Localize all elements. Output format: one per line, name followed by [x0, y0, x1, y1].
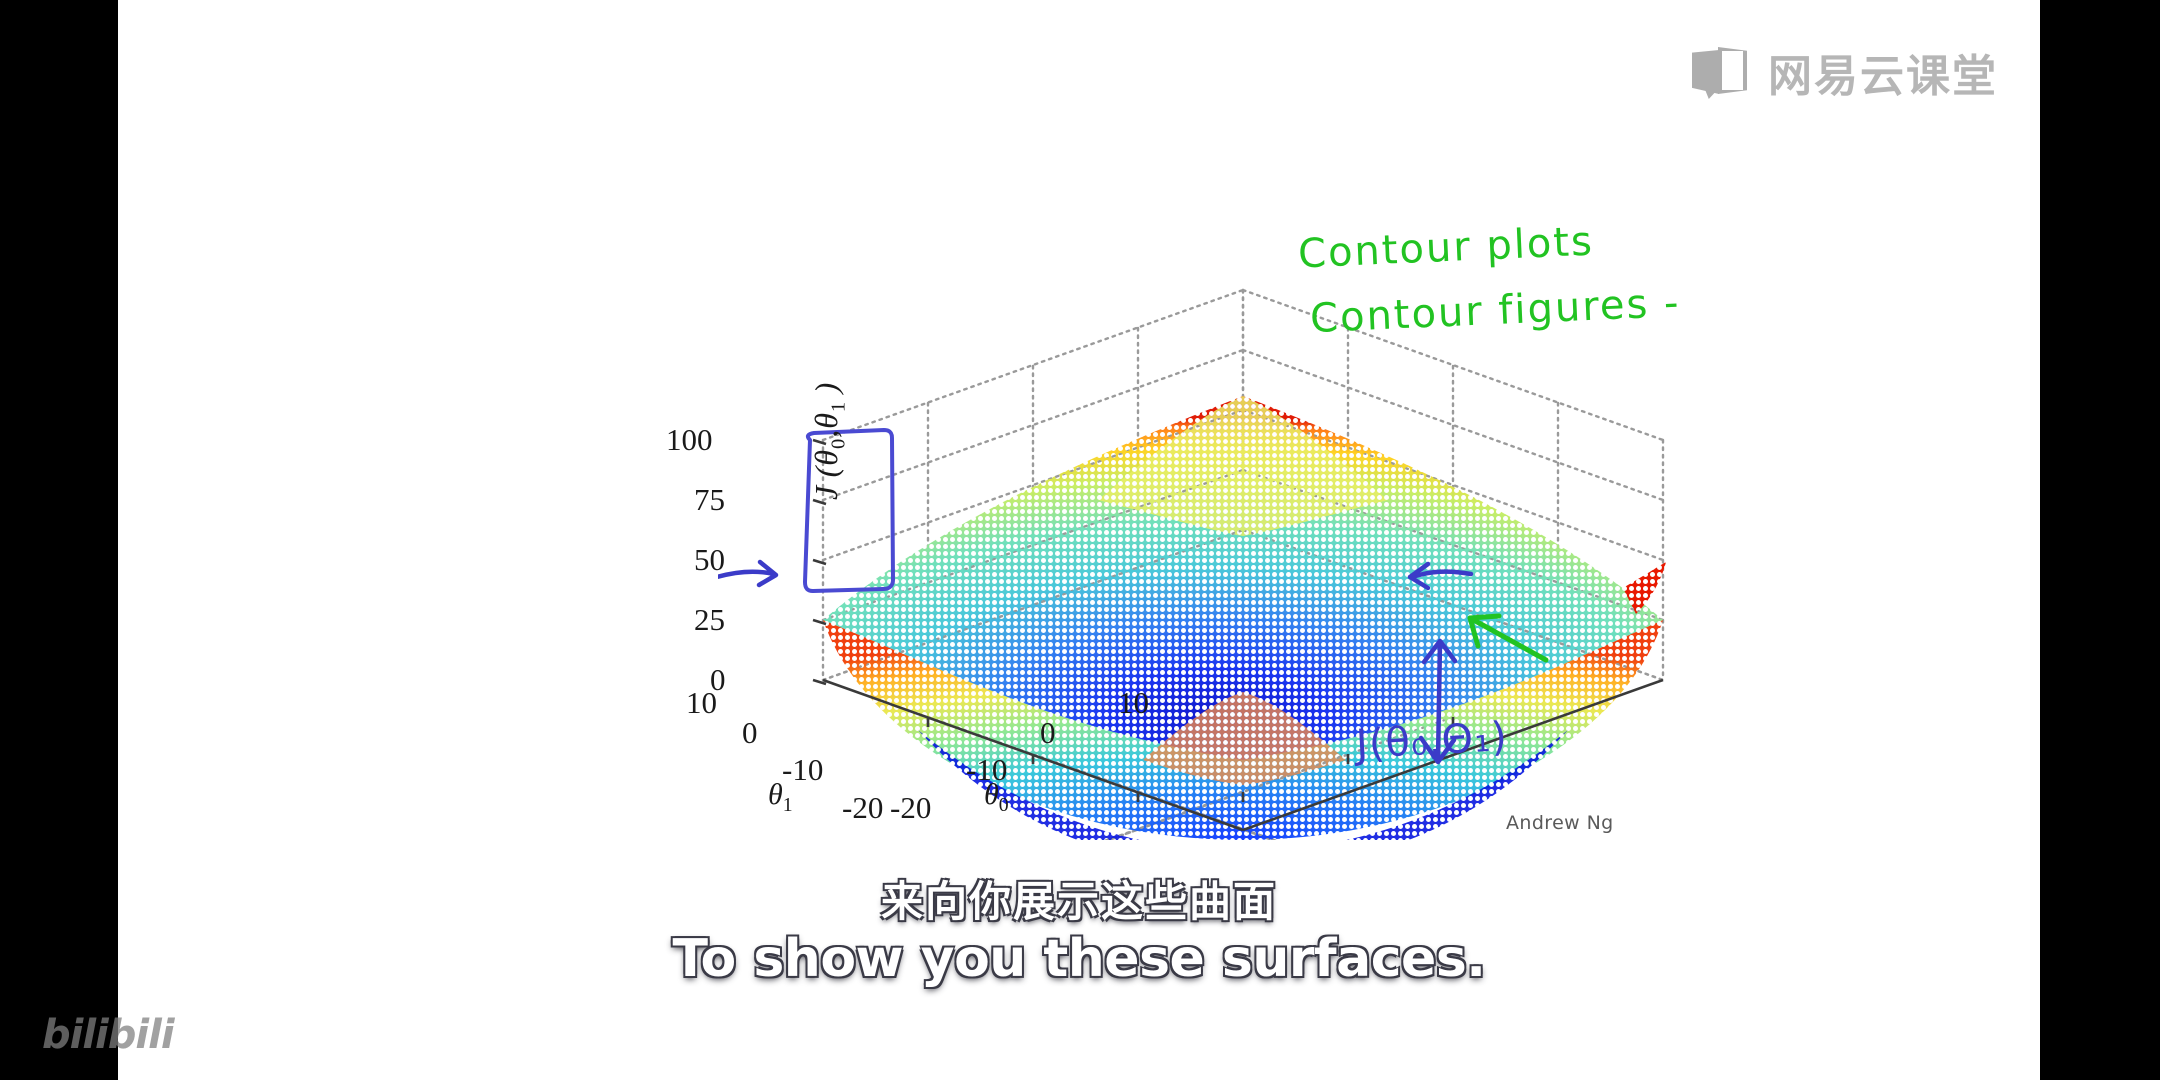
xtick-minus20: -20: [890, 790, 931, 826]
theta0-axis-label: θ0: [984, 778, 1009, 817]
xtick-10: 10: [1118, 685, 1149, 721]
ytick-0: 0: [742, 715, 758, 751]
brand-watermark: 网易云课堂: [1692, 40, 1998, 104]
bilibili-watermark: bilibili: [42, 1012, 174, 1058]
zaxis-label: J (θ0,θ1 ): [808, 340, 868, 500]
ztick-100: 100: [666, 422, 713, 458]
book-screen-icon: [1692, 47, 1748, 97]
video-content-area: 网易云课堂: [118, 0, 2040, 1080]
subtitle-english: To show you these surfaces.: [118, 932, 2040, 987]
video-player-screen: 网易云课堂: [0, 0, 2160, 1080]
theta1-axis-label: θ1: [768, 778, 793, 817]
ytick-10: 10: [686, 685, 717, 721]
author-credit: Andrew Ng: [1506, 812, 1614, 834]
cost-function-note: J(θ₀,Θ₁): [1355, 714, 1509, 768]
cost-surface-mesh: [823, 396, 1666, 840]
xtick-0: 0: [1040, 715, 1056, 751]
subtitle-block: 来向你展示这些曲面 To show you these surfaces.: [118, 880, 2040, 987]
subtitle-chinese: 来向你展示这些曲面: [118, 880, 2040, 924]
ztick-75: 75: [694, 482, 725, 518]
ztick-50: 50: [694, 542, 725, 578]
ztick-25: 25: [694, 602, 725, 638]
brand-watermark-label: 网易云课堂: [1768, 40, 1998, 104]
ytick-minus20: -20: [842, 790, 883, 826]
theta1-pointer-arrow: [718, 562, 776, 585]
